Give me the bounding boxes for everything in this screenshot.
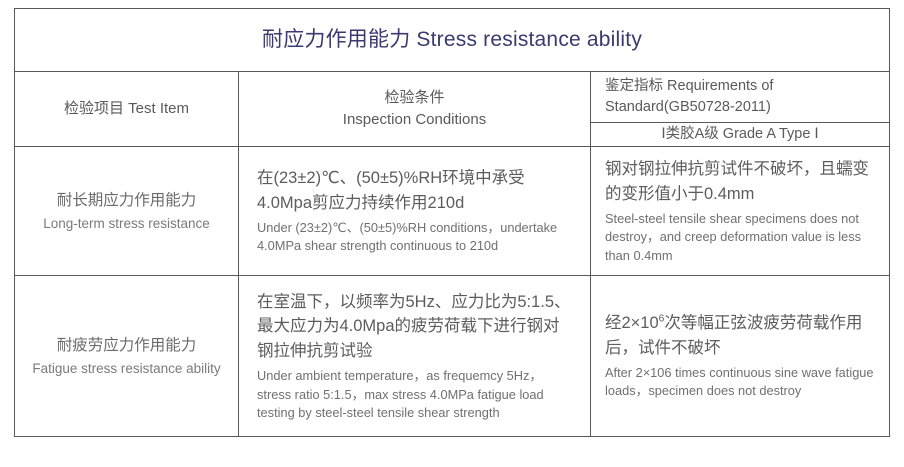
row1-item-en: Long-term stress resistance (23, 214, 230, 234)
header-requirements-line1: 鉴定指标 Requirements of (605, 76, 889, 97)
row1-test-item: 耐长期应力作用能力 Long-term stress resistance (15, 147, 239, 276)
header-inspection-conditions: 检验条件 Inspection Conditions (239, 72, 591, 147)
table-title-row: 耐应力作用能力 Stress resistance ability (15, 9, 890, 72)
table-header-row: 检验项目 Test Item 检验条件 Inspection Condition… (15, 72, 890, 123)
row2-requirement-cn: 经2×106次等幅正弦波疲劳荷载作用后，试件不破坏 (605, 311, 877, 361)
row2-condition-cn: 在室温下，以频率为5Hz、应力比为5:1.5、最大应力为4.0Mpa的疲劳荷载下… (257, 290, 574, 364)
row1-requirement-cn: 钢对钢拉伸抗剪试件不破坏，且蠕变的变形值小于0.4mm (605, 157, 877, 207)
row2-test-item: 耐疲劳应力作用能力 Fatigue stress resistance abil… (15, 276, 239, 437)
table-title-cell: 耐应力作用能力 Stress resistance ability (15, 9, 890, 72)
header-requirements-of-standard: 鉴定指标 Requirements of Standard(GB50728-20… (591, 72, 890, 123)
row1-condition-cn: 在(23±2)℃、(50±5)%RH环境中承受4.0Mpa剪应力持续作用210d (257, 166, 574, 216)
table-row: 耐长期应力作用能力 Long-term stress resistance 在(… (15, 147, 890, 276)
header-conditions-cn: 检验条件 (239, 87, 590, 109)
row2-requirement-en: After 2×106 times continuous sine wave f… (605, 364, 877, 401)
page-title: 耐应力作用能力 Stress resistance ability (15, 27, 889, 52)
row1-item-cn: 耐长期应力作用能力 (23, 189, 230, 212)
table-row: 耐疲劳应力作用能力 Fatigue stress resistance abil… (15, 276, 890, 437)
row2-item-cn: 耐疲劳应力作用能力 (23, 334, 230, 357)
header-requirements-line2: Standard(GB50728-2011) (605, 97, 889, 118)
header-grade-type: Ⅰ类胶A级 Grade A Type Ⅰ (591, 123, 890, 147)
header-test-item-label: 检验项目 Test Item (15, 98, 238, 120)
row1-requirement: 钢对钢拉伸抗剪试件不破坏，且蠕变的变形值小于0.4mm Steel-steel … (591, 147, 890, 276)
row2-requirement-cn-pre: 经2×10 (605, 314, 659, 332)
stress-resistance-table: 耐应力作用能力 Stress resistance ability 检验项目 T… (14, 8, 890, 437)
row1-condition-en: Under (23±2)℃、(50±5)%RH conditions，under… (257, 219, 574, 256)
header-conditions-en: Inspection Conditions (239, 109, 590, 131)
row2-inspection-condition: 在室温下，以频率为5Hz、应力比为5:1.5、最大应力为4.0Mpa的疲劳荷载下… (239, 276, 591, 437)
row2-condition-en: Under ambient temperature，as frequemcy 5… (257, 367, 574, 423)
row2-requirement: 经2×106次等幅正弦波疲劳荷载作用后，试件不破坏 After 2×106 ti… (591, 276, 890, 437)
header-test-item: 检验项目 Test Item (15, 72, 239, 147)
row1-inspection-condition: 在(23±2)℃、(50±5)%RH环境中承受4.0Mpa剪应力持续作用210d… (239, 147, 591, 276)
spec-table-page: 耐应力作用能力 Stress resistance ability 检验项目 T… (0, 0, 904, 467)
row2-item-en: Fatigue stress resistance ability (23, 359, 230, 379)
row1-requirement-en: Steel-steel tensile shear specimens does… (605, 210, 877, 266)
